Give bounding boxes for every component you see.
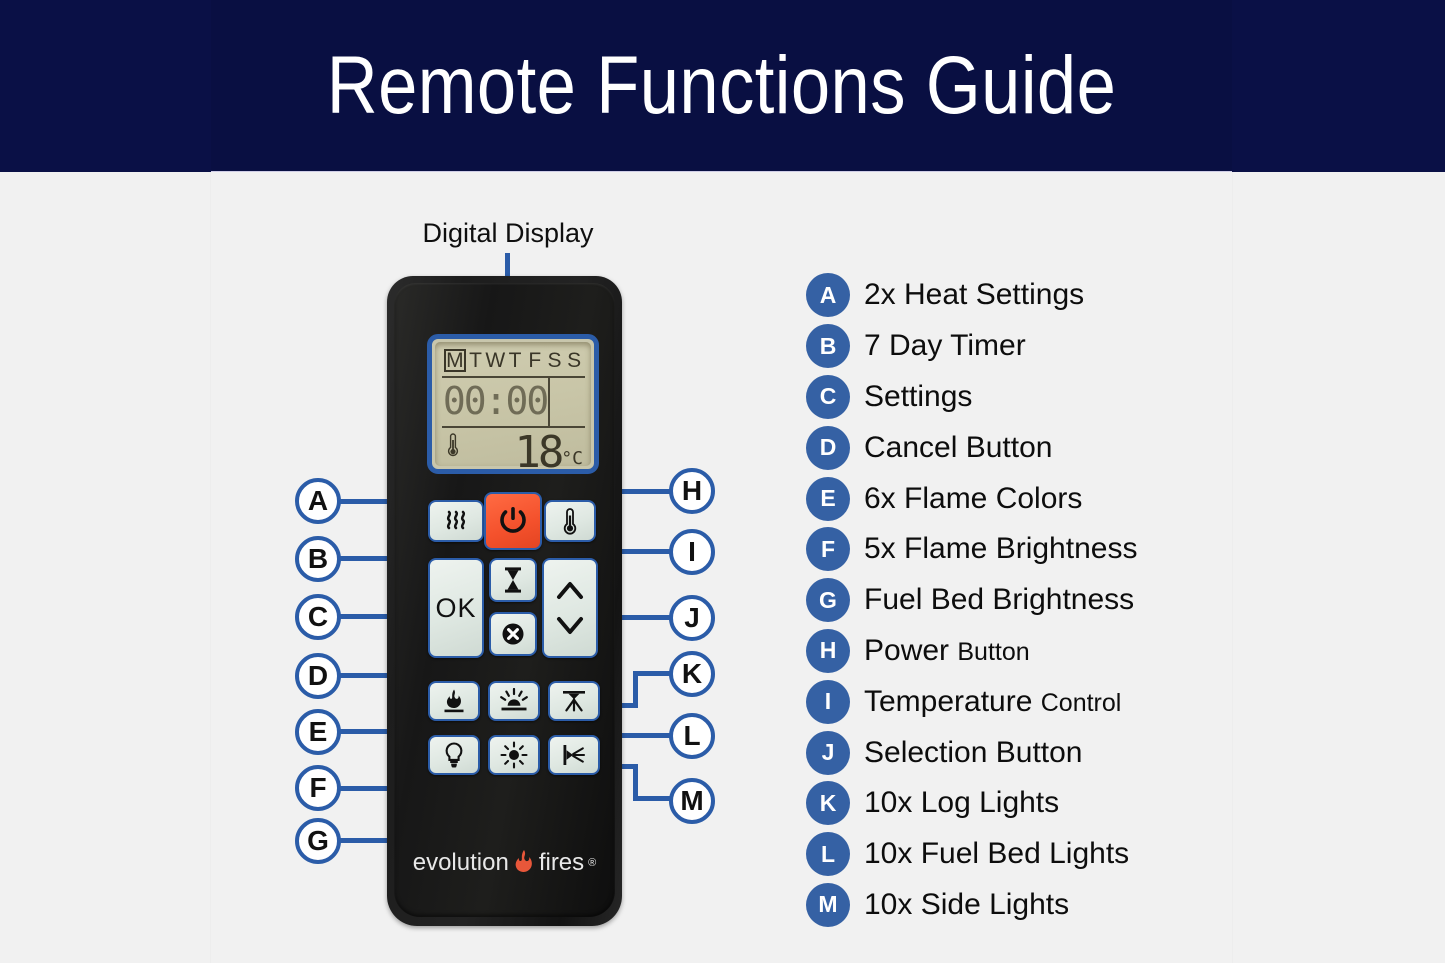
digital-display-label: Digital Display [408, 218, 608, 249]
legend-label-d: Cancel Button [864, 431, 1052, 465]
legend-label-i-text: Temperature [864, 685, 1041, 718]
legend-badge-e: E [806, 477, 850, 521]
callout-label-b: B [308, 543, 328, 575]
legend-item-g: G Fuel Bed Brightness [806, 575, 1226, 626]
legend-label-f-text: 5x Flame Brightness [864, 532, 1137, 565]
legend-badge-a: A [806, 273, 850, 317]
callout-circle-h[interactable]: H [669, 468, 715, 514]
page-root: Remote Functions Guide Digital Display [0, 0, 1445, 963]
remote-body: M T W T F S S 00:00 [394, 283, 615, 917]
callout-label-h: H [682, 475, 702, 507]
side-light-icon [559, 742, 589, 768]
callout-line-k3 [633, 671, 673, 676]
lcd-day-sun: S [564, 349, 584, 373]
brand-word-evolution: evolution [413, 849, 509, 877]
legend-badge-j: J [806, 731, 850, 775]
legend-label-l-text: 10x Fuel Bed Lights [864, 837, 1129, 870]
sunrise-rays-icon [499, 688, 529, 714]
hourglass-icon [503, 566, 523, 594]
legend-badge-d: D [806, 426, 850, 470]
callout-line-k2 [633, 671, 638, 708]
legend-label-a-text: 2x Heat Settings [864, 278, 1084, 311]
callout-label-e: E [309, 716, 328, 748]
lcd-clock-value: 00:00 [443, 378, 547, 424]
lcd-day-mon: M [444, 349, 466, 372]
legend-item-m: M 10x Side Lights [806, 880, 1226, 931]
power-icon [498, 505, 528, 537]
cancel-button[interactable] [489, 612, 537, 656]
brand-logo: evolution fires® [394, 849, 615, 877]
legend-item-j: J Selection Button [806, 727, 1226, 778]
thermometer-icon [561, 507, 579, 535]
lcd-surface: M T W T F S S 00:00 [435, 342, 591, 466]
up-down-chevron-icon [550, 566, 590, 650]
callout-circle-a[interactable]: A [295, 478, 341, 524]
lcd-temp-number: 18 [514, 432, 561, 474]
lcd-temperature-value: 18°C [514, 430, 583, 474]
legend-badge-m: M [806, 883, 850, 927]
bulb-icon [442, 741, 466, 769]
ok-button-label: OK [435, 593, 476, 624]
callout-label-c: C [308, 601, 328, 633]
log-lights-button[interactable] [548, 681, 600, 721]
brand-registered-mark: ® [588, 857, 596, 869]
legend-label-b-text: 7 Day Timer [864, 329, 1026, 362]
lcd-day-fri: F [525, 349, 545, 373]
callout-label-i: I [688, 536, 696, 568]
legend-item-h: H Power Button [806, 626, 1226, 677]
callout-line-m2 [633, 764, 638, 800]
legend-label-e-text: 6x Flame Colors [864, 482, 1082, 515]
legend-label-k: 10x Log Lights [864, 786, 1059, 820]
callout-label-g: G [307, 825, 329, 857]
header-inner-panel: Remote Functions Guide [211, 0, 1232, 172]
legend-label-j: Selection Button [864, 736, 1082, 770]
remote-control-device: M T W T F S S 00:00 [387, 276, 622, 926]
legend-badge-h: H [806, 629, 850, 673]
legend-label-m-text: 10x Side Lights [864, 888, 1069, 921]
timer-button[interactable] [489, 558, 537, 602]
callout-circle-i[interactable]: I [669, 529, 715, 575]
callout-circle-l[interactable]: L [669, 713, 715, 759]
legend-item-c: C Settings [806, 372, 1226, 423]
legend-label-k-text: 10x Log Lights [864, 786, 1059, 819]
lcd-day-tue: T [466, 349, 486, 373]
callout-label-l: L [683, 720, 700, 752]
legend-badge-g: G [806, 578, 850, 622]
panel-seam-right [1232, 172, 1233, 963]
callout-circle-k[interactable]: K [669, 651, 715, 697]
legend-badge-f: F [806, 527, 850, 571]
legend-item-b: B 7 Day Timer [806, 321, 1226, 372]
callout-circle-j[interactable]: J [669, 595, 715, 641]
legend-label-f: 5x Flame Brightness [864, 532, 1137, 566]
callout-line-m3 [633, 796, 673, 801]
lcd-temp-unit: °C [561, 444, 583, 474]
callout-circle-b[interactable]: B [295, 536, 341, 582]
legend-badge-c: C [806, 375, 850, 419]
legend-label-i-subtext: Control [1041, 689, 1122, 717]
lcd-thermometer-icon [446, 432, 460, 458]
legend-item-f: F 5x Flame Brightness [806, 524, 1226, 575]
flame-color-button[interactable] [428, 681, 480, 721]
legend-badge-b: B [806, 324, 850, 368]
lcd-day-thu: T [505, 349, 525, 373]
callout-circle-g[interactable]: G [295, 818, 341, 864]
legend-label-i: Temperature Control [864, 685, 1121, 719]
power-button[interactable] [484, 492, 542, 550]
legend-badge-l: L [806, 832, 850, 876]
fuel-bed-brightness-button[interactable] [488, 735, 540, 775]
legend-label-d-text: Cancel Button [864, 431, 1052, 464]
legend-label-g: Fuel Bed Brightness [864, 583, 1134, 617]
callout-label-k: K [682, 658, 702, 690]
callout-circle-d[interactable]: D [295, 653, 341, 699]
lcd-divider-vertical [548, 376, 550, 426]
legend-label-j-text: Selection Button [864, 736, 1082, 769]
legend-item-a: A 2x Heat Settings [806, 270, 1226, 321]
ok-button[interactable]: OK [428, 558, 484, 658]
callout-label-a: A [308, 485, 328, 517]
legend-label-l: 10x Fuel Bed Lights [864, 837, 1129, 871]
callout-circle-e[interactable]: E [295, 709, 341, 755]
sun-icon [500, 741, 528, 769]
cancel-x-icon [500, 621, 526, 647]
callout-circle-c[interactable]: C [295, 594, 341, 640]
callout-circle-f[interactable]: F [295, 765, 341, 811]
fuel-bed-lights-button[interactable] [488, 681, 540, 721]
panel-seam-left [210, 172, 211, 963]
legend-item-l: L 10x Fuel Bed Lights [806, 829, 1226, 880]
legend-label-h: Power Button [864, 634, 1030, 668]
legend-label-e: 6x Flame Colors [864, 482, 1082, 516]
legend-label-h-subtext: Button [957, 638, 1029, 666]
legend-badge-k: K [806, 781, 850, 825]
callout-circle-m[interactable]: M [669, 778, 715, 824]
legend-label-c-text: Settings [864, 380, 972, 413]
legend-item-d: D Cancel Button [806, 422, 1226, 473]
legend-label-b: 7 Day Timer [864, 329, 1026, 363]
temperature-button[interactable] [544, 500, 596, 542]
legend-list: A 2x Heat Settings B 7 Day Timer C Setti… [806, 270, 1226, 930]
legend-label-h-text: Power [864, 634, 957, 667]
lcd-day-sat: S [545, 349, 565, 373]
legend-label-c: Settings [864, 380, 972, 414]
lcd-weekday-row: M T W T F S S [444, 348, 584, 373]
digital-display-screen: M T W T F S S 00:00 [427, 334, 599, 474]
legend-label-a: 2x Heat Settings [864, 278, 1084, 312]
selection-button[interactable] [542, 558, 598, 658]
legend-item-e: E 6x Flame Colors [806, 473, 1226, 524]
brand-flame-icon [513, 849, 535, 877]
side-lights-button[interactable] [548, 735, 600, 775]
heat-settings-button[interactable] [428, 500, 484, 542]
callout-label-f: F [309, 772, 326, 804]
heat-waves-icon [441, 509, 471, 533]
legend-item-k: K 10x Log Lights [806, 778, 1226, 829]
downlight-icon [559, 688, 589, 714]
page-title: Remote Functions Guide [282, 0, 1160, 172]
legend-label-g-text: Fuel Bed Brightness [864, 583, 1134, 616]
legend-label-m: 10x Side Lights [864, 888, 1069, 922]
legend-badge-i: I [806, 680, 850, 724]
callout-label-d: D [308, 660, 328, 692]
flame-brightness-button[interactable] [428, 735, 480, 775]
page-header: Remote Functions Guide [0, 0, 1445, 172]
brand-word-fires: fires [539, 849, 584, 877]
callout-label-j: J [684, 602, 700, 634]
callout-label-m: M [680, 785, 703, 817]
legend-item-i: I Temperature Control [806, 676, 1226, 727]
lcd-day-wed: W [485, 349, 505, 373]
flame-icon [442, 688, 466, 714]
